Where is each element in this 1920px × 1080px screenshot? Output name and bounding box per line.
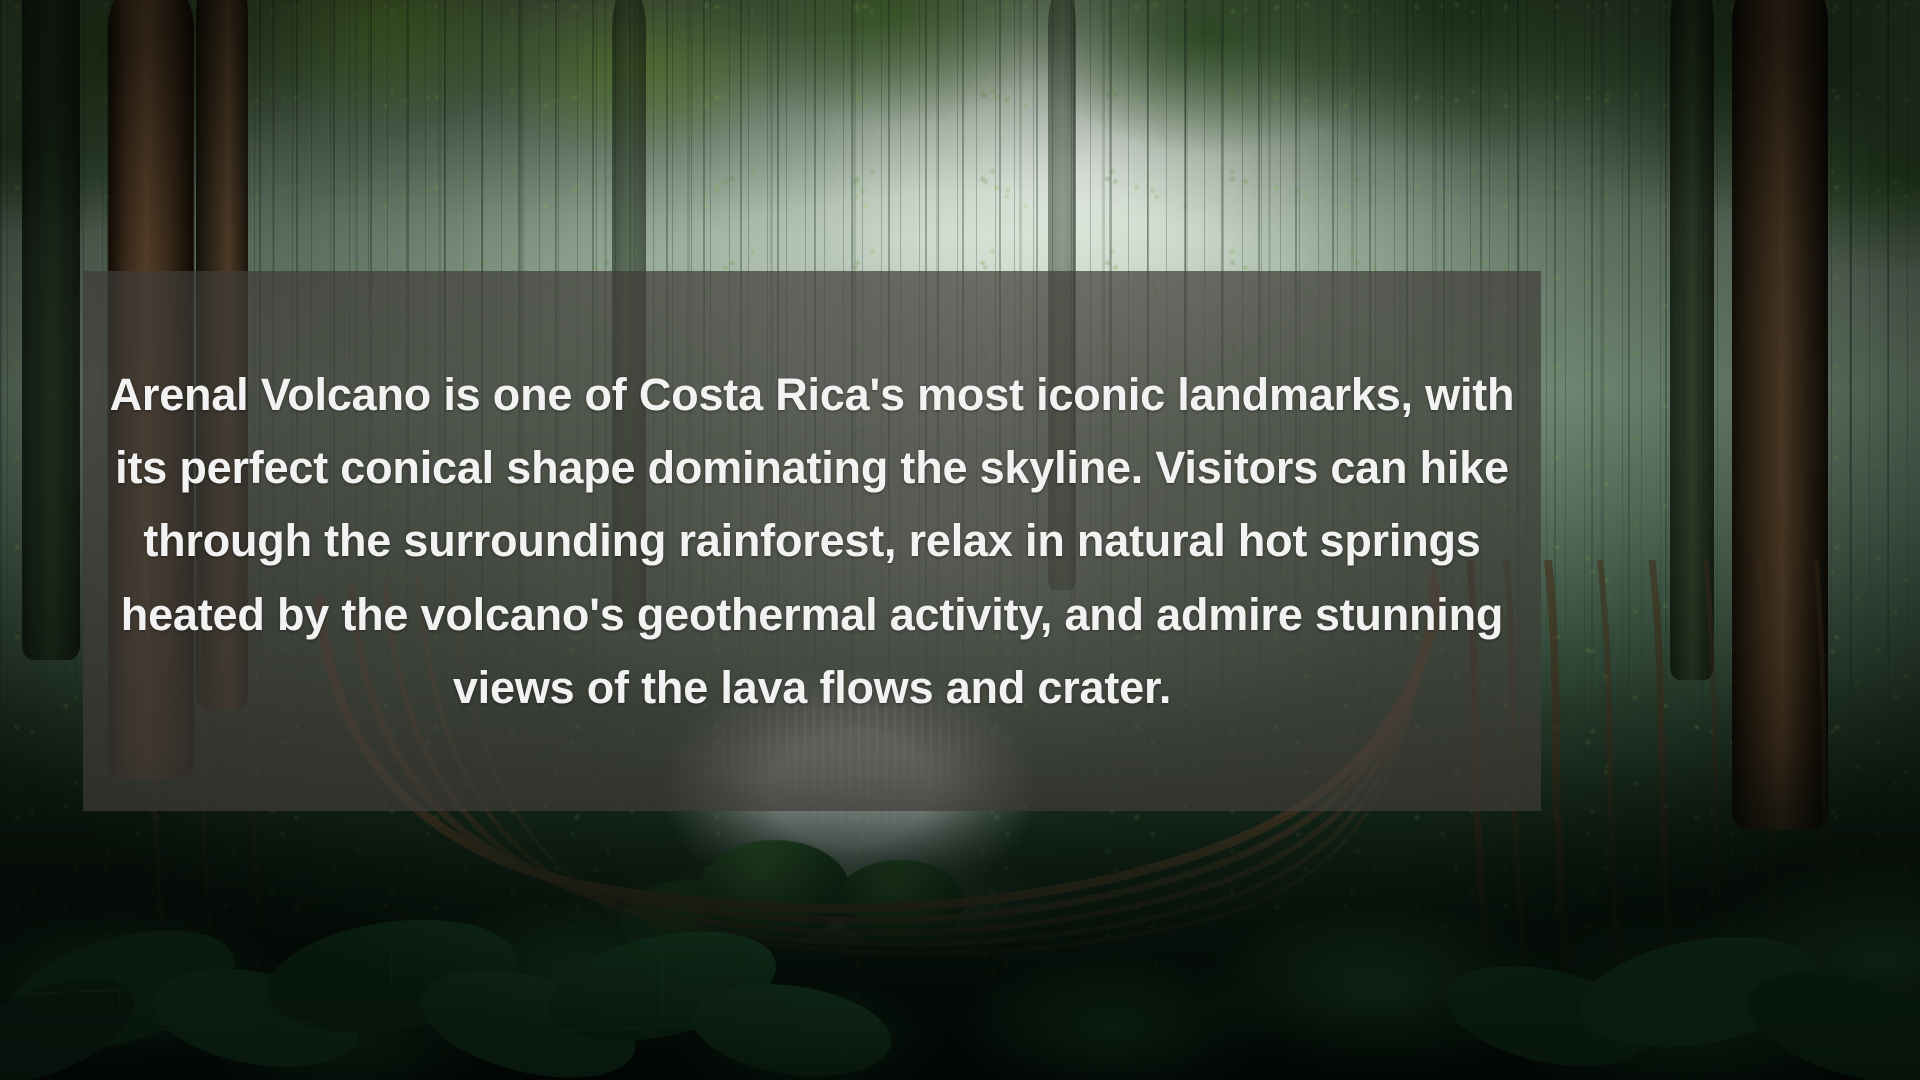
- rainforest-text-overlay-scene: Arenal Volcano is one of Costa Rica's mo…: [0, 0, 1920, 1080]
- caption-panel: Arenal Volcano is one of Costa Rica's mo…: [83, 271, 1541, 811]
- caption-text: Arenal Volcano is one of Costa Rica's mo…: [109, 358, 1515, 724]
